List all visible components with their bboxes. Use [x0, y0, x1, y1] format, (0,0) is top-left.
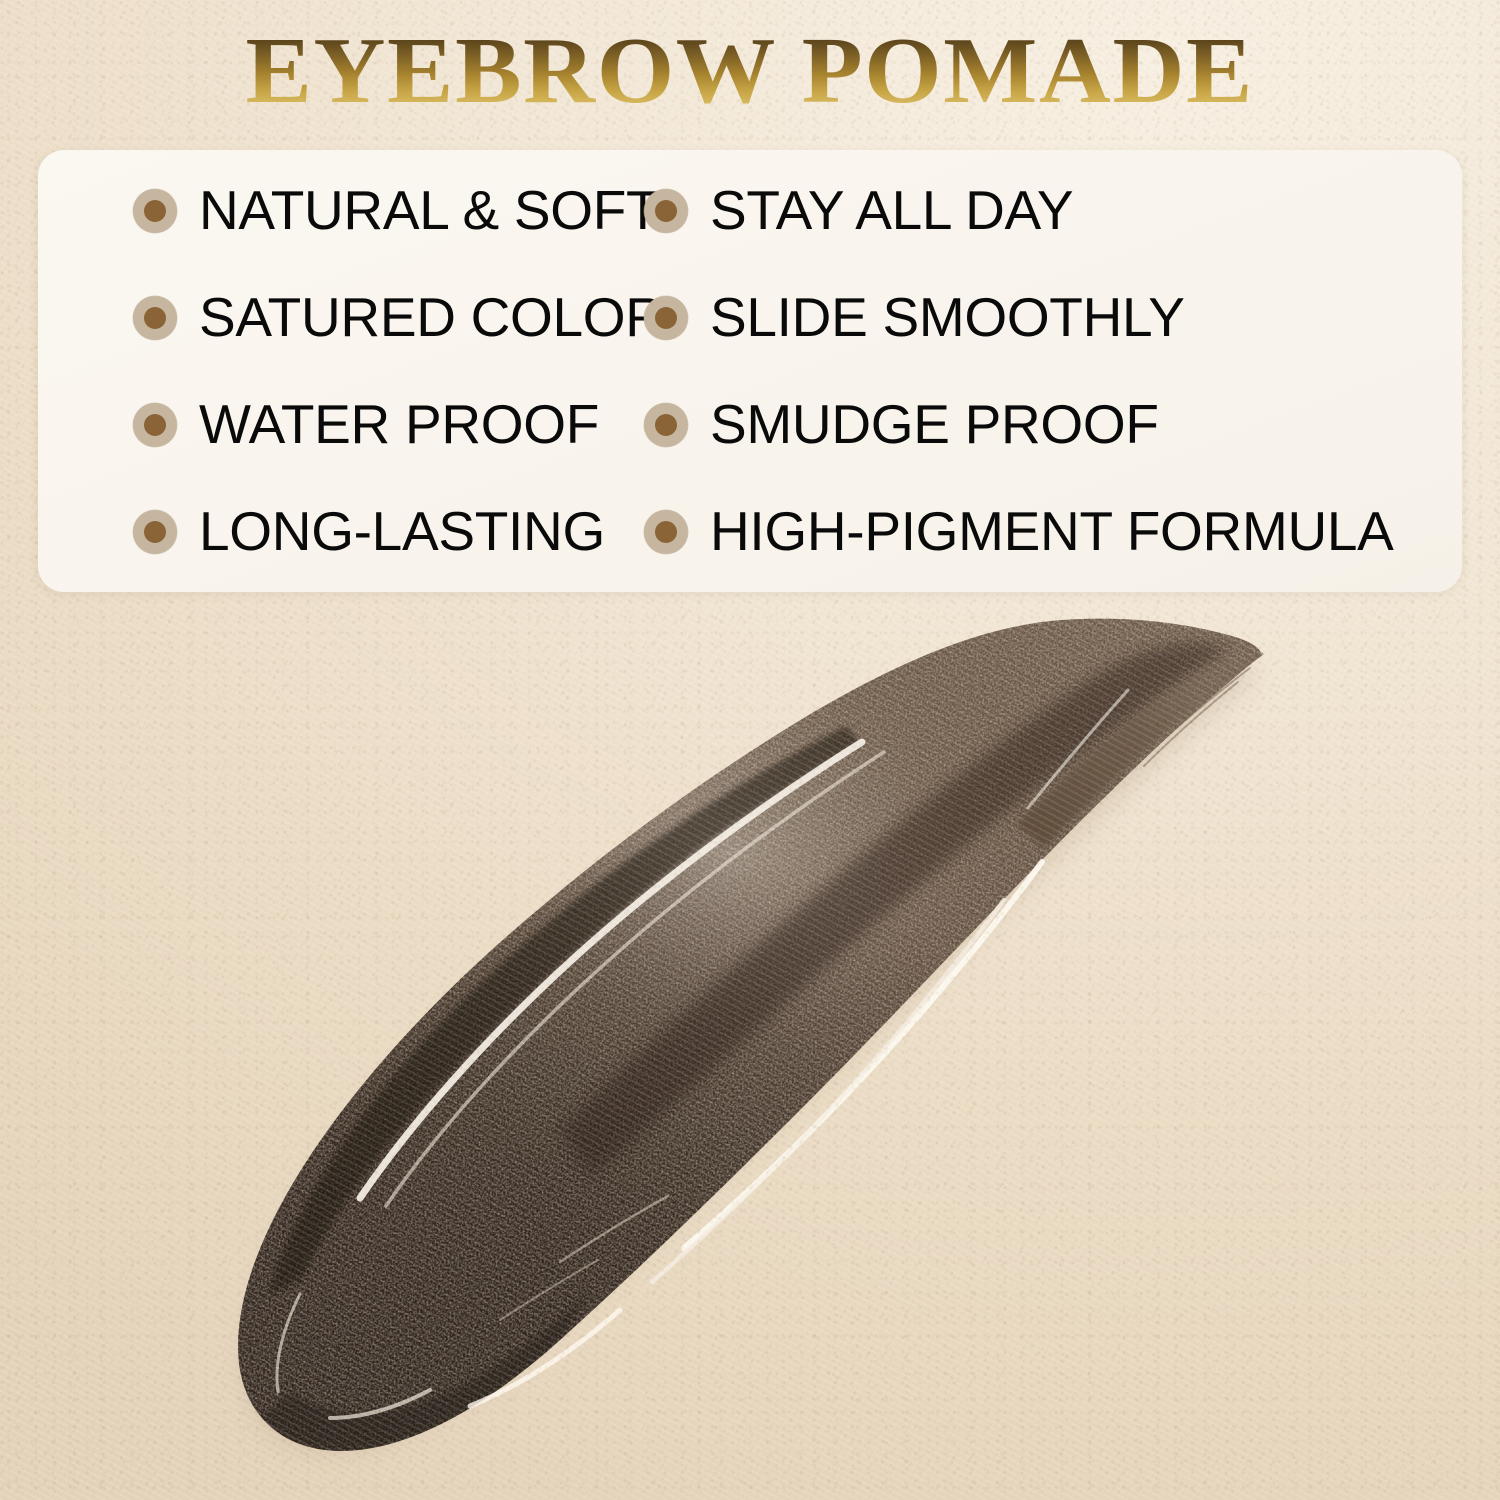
page-title: EYEBROW POMADE — [246, 24, 1255, 118]
bullet-dot-icon — [644, 403, 688, 447]
feature-item: SMUDGE PROOF — [644, 397, 1462, 452]
feature-label: STAY ALL DAY — [710, 183, 1073, 238]
feature-row: NATURAL & SOFT STAY ALL DAY — [38, 157, 1462, 264]
feature-row: WATER PROOF SMUDGE PROOF — [38, 371, 1462, 478]
bullet-dot-icon — [133, 510, 177, 554]
feature-label: SLIDE SMOOTHLY — [710, 290, 1185, 345]
feature-row: SATURED COLOR SLIDE SMOOTHLY — [38, 264, 1462, 371]
feature-item: WATER PROOF — [38, 397, 644, 452]
page-title-wrap: EYEBROW POMADE — [0, 24, 1500, 118]
feature-item: HIGH-PIGMENT FORMULA — [644, 504, 1462, 559]
bullet-dot-icon — [644, 296, 688, 340]
feature-label: HIGH-PIGMENT FORMULA — [710, 504, 1394, 559]
feature-label: SMUDGE PROOF — [710, 397, 1159, 452]
bullet-dot-icon — [644, 510, 688, 554]
feature-item: NATURAL & SOFT — [38, 183, 644, 238]
feature-label: WATER PROOF — [199, 397, 599, 452]
bullet-dot-icon — [644, 189, 688, 233]
features-card: NATURAL & SOFT STAY ALL DAY SATURED COLO… — [38, 150, 1462, 592]
feature-item: SLIDE SMOOTHLY — [644, 290, 1462, 345]
feature-item: SATURED COLOR — [38, 290, 644, 345]
bullet-dot-icon — [133, 189, 177, 233]
features-list: NATURAL & SOFT STAY ALL DAY SATURED COLO… — [38, 150, 1462, 592]
bullet-dot-icon — [133, 296, 177, 340]
feature-label: SATURED COLOR — [199, 290, 665, 345]
product-infographic: EYEBROW POMADE NATURAL & SOFT STAY ALL D… — [0, 0, 1500, 1500]
feature-item: STAY ALL DAY — [644, 183, 1462, 238]
feature-label: NATURAL & SOFT — [199, 183, 659, 238]
feature-label: LONG-LASTING — [199, 504, 605, 559]
feature-row: LONG-LASTING HIGH-PIGMENT FORMULA — [38, 478, 1462, 585]
feature-item: LONG-LASTING — [38, 504, 644, 559]
bullet-dot-icon — [133, 403, 177, 447]
